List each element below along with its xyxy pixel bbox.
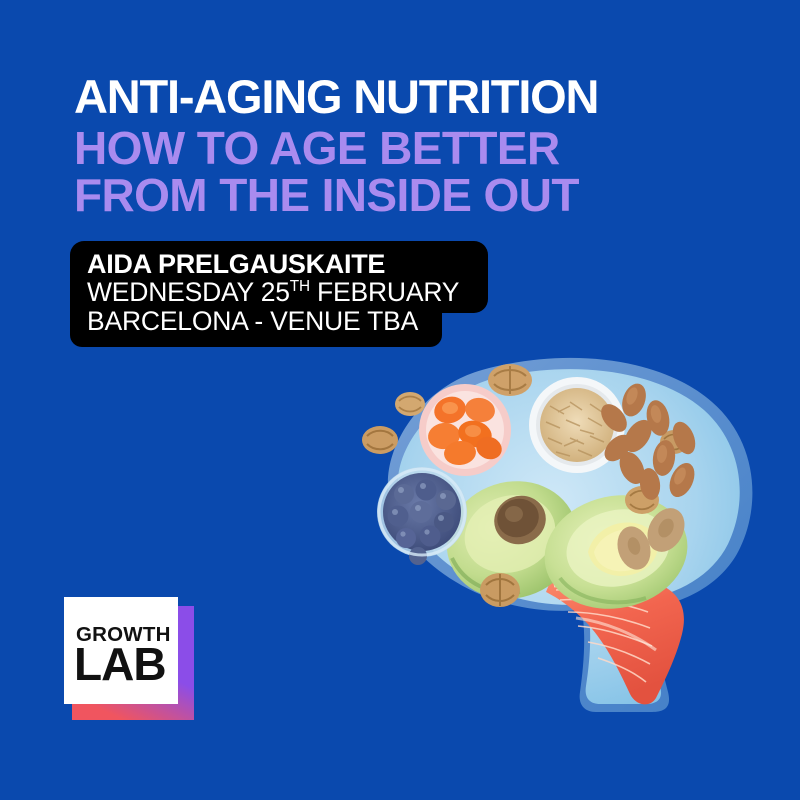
event-date: WEDNESDAY 25TH FEBRUARY xyxy=(87,279,459,307)
poster-canvas: ANTI-AGING NUTRITION HOW TO AGE BETTER F… xyxy=(0,0,800,800)
plaque-text-block: AIDA PRELGAUSKAITE WEDNESDAY 25TH FEBRUA… xyxy=(87,250,459,335)
brain-food-image xyxy=(332,352,800,712)
growth-lab-logo: GROWTH LAB xyxy=(64,597,186,711)
event-date-prefix: WEDNESDAY 25 xyxy=(87,277,290,307)
headline-line-1: ANTI-AGING NUTRITION xyxy=(74,74,734,120)
event-venue: BARCELONA - VENUE TBA xyxy=(87,308,459,336)
event-date-ordinal: TH xyxy=(290,278,310,295)
event-details-plaque: AIDA PRELGAUSKAITE WEDNESDAY 25TH FEBRUA… xyxy=(70,241,488,347)
headline-block: ANTI-AGING NUTRITION HOW TO AGE BETTER F… xyxy=(74,74,734,218)
event-date-suffix: FEBRUARY xyxy=(310,277,459,307)
headline-line-3: FROM THE INSIDE OUT xyxy=(74,173,734,218)
logo-word-lab: LAB xyxy=(74,641,166,687)
headline-line-2: HOW TO AGE BETTER xyxy=(74,126,734,171)
brain-food-illustration xyxy=(332,352,800,712)
speaker-name: AIDA PRELGAUSKAITE xyxy=(87,250,459,278)
dried-apricots-bowl xyxy=(419,384,511,476)
logo-white-card: GROWTH LAB xyxy=(64,597,178,704)
